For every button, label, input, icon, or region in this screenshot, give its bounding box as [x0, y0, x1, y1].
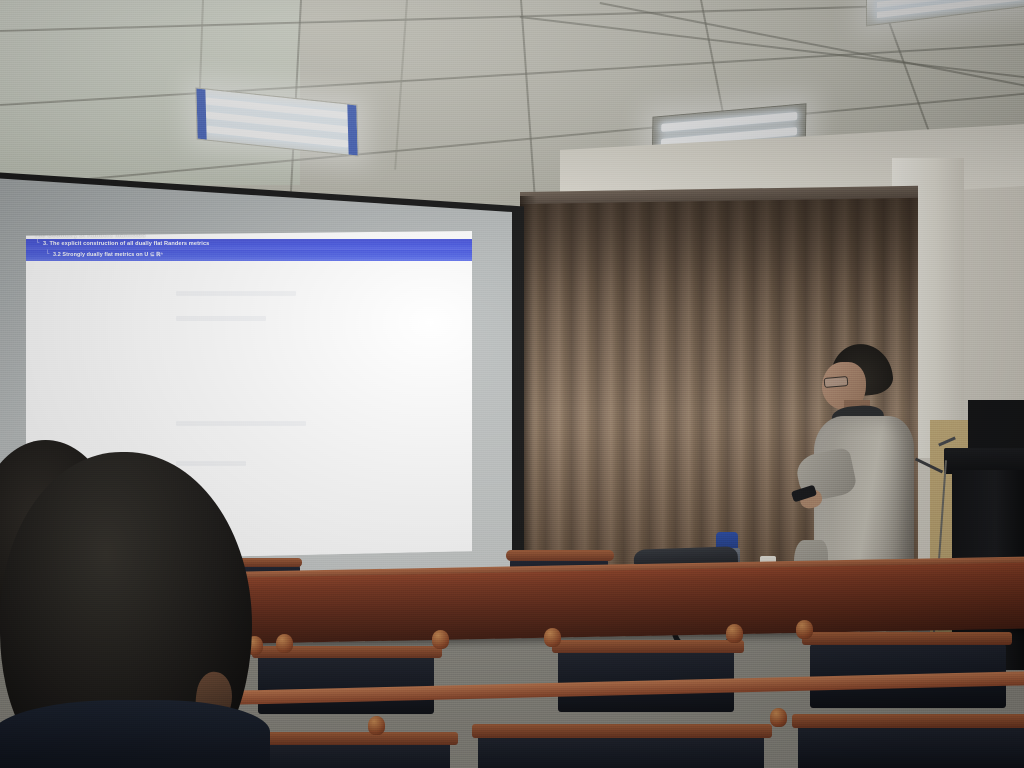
fluorescent-fixture-left-icon	[195, 87, 358, 156]
bench-front-center	[470, 722, 770, 768]
ceiling-conduit	[198, 0, 204, 120]
ceiling-grid-line	[520, 0, 536, 200]
slide-nav-level1-text: 3. The explicit construction of all dual…	[43, 241, 209, 247]
lectern-screen	[968, 400, 1024, 452]
ceiling-plane-left	[0, 0, 300, 185]
ceiling-grid-line	[520, 16, 1024, 91]
glasses-icon	[824, 376, 849, 388]
slide-nav-level2-text: 3.2 Strongly dually flat metrics on U ⊆ …	[53, 252, 163, 258]
ceiling-grid-line	[0, 0, 1024, 32]
ceiling-grid-line	[0, 39, 1024, 106]
lecture-hall-photo: The Geometry of Randers manifolds └ └ 3.…	[0, 0, 1024, 768]
bench-front-right	[790, 712, 1024, 768]
audience-shoulder	[0, 700, 270, 768]
tree-branch-icon: └	[35, 240, 39, 246]
ceiling-grid-line	[290, 0, 302, 200]
fluorescent-fixture-corner-icon	[866, 0, 1024, 26]
tree-branch-icon: └	[45, 251, 49, 257]
ceiling-conduit	[394, 0, 408, 170]
ceiling-grid-line	[600, 2, 1024, 107]
